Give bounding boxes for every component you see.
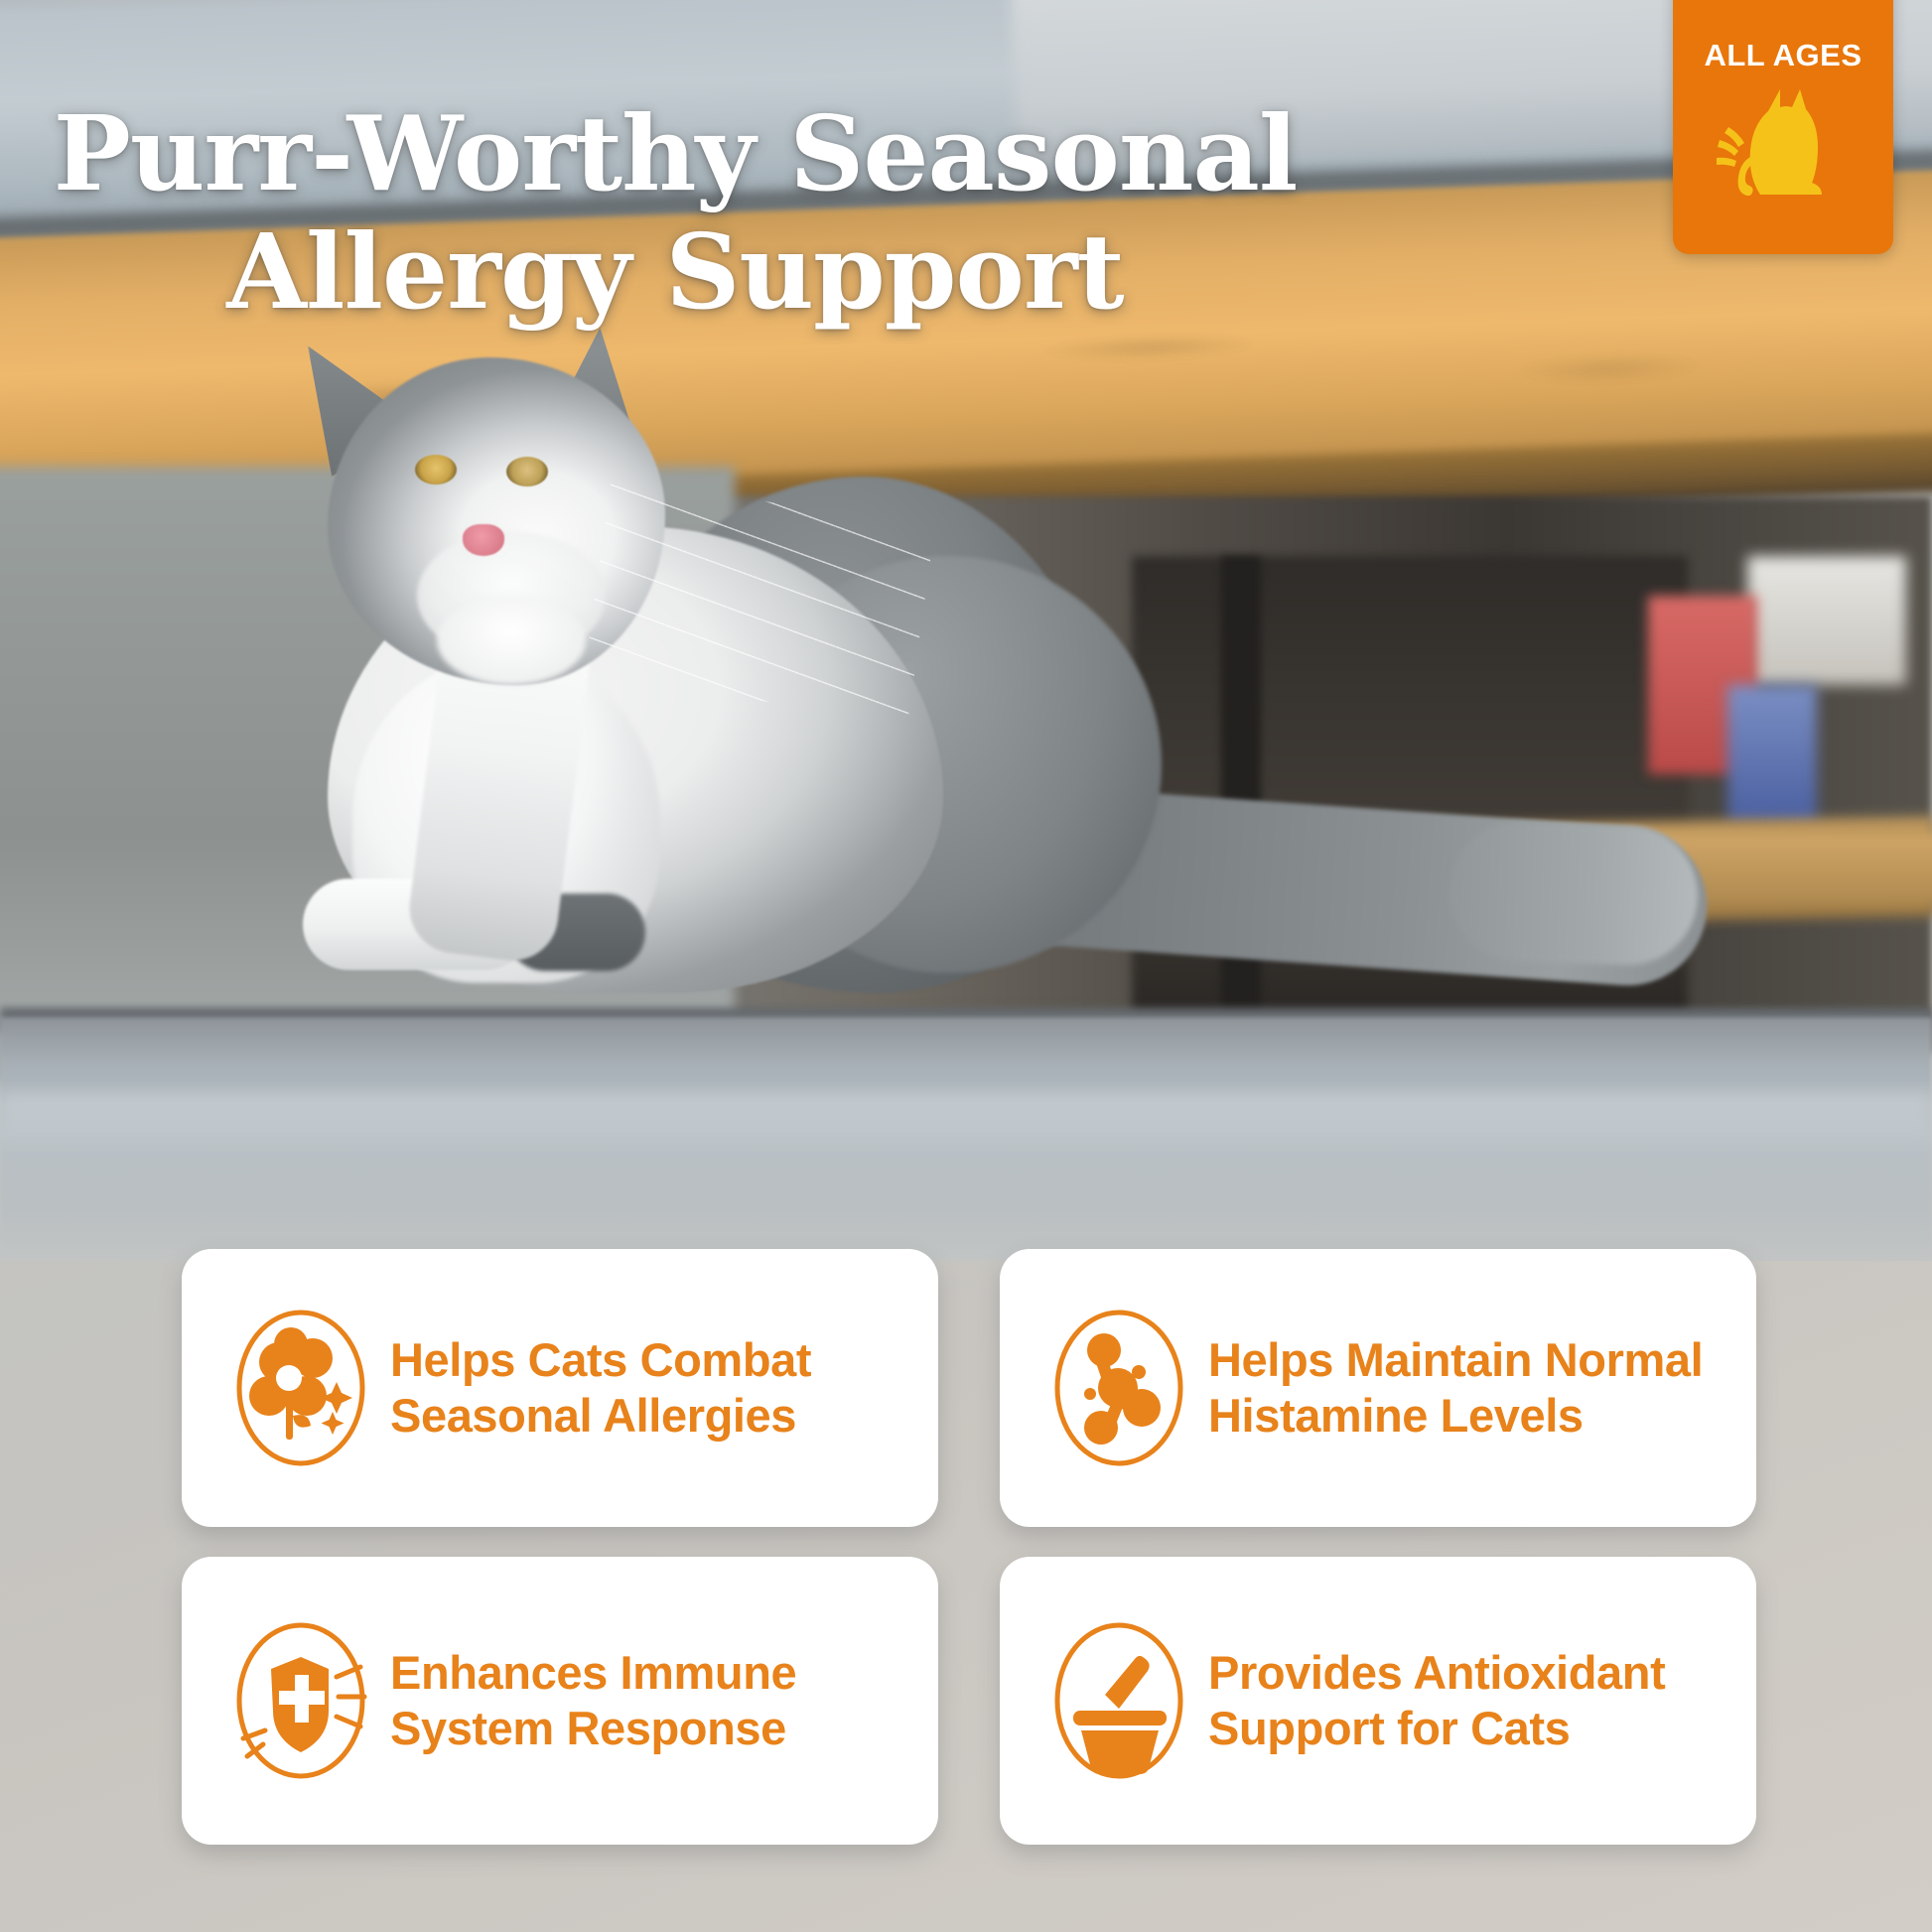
title-line-1: Purr-Worthy Seasonal [0, 95, 1350, 213]
feature-card-label: Provides Antioxidant Support for Cats [1208, 1645, 1723, 1757]
floor [0, 1018, 1932, 1261]
cat-eye-left [415, 455, 457, 484]
feature-card-label: Enhances Immune System Response [390, 1645, 904, 1757]
title-line-2: Allergy Support [0, 213, 1350, 332]
all-ages-badge: ALL AGES [1673, 0, 1893, 254]
cat-illustration [268, 328, 1509, 1023]
feature-card[interactable]: Helps Maintain Normal Histamine Levels [1000, 1249, 1756, 1527]
page-title: Purr-Worthy Seasonal Allergy Support [0, 95, 1350, 331]
cat-tail-tip [1448, 820, 1701, 968]
feature-card-grid: Helps Cats Combat Seasonal Allergies Hel… [182, 1249, 1756, 1864]
all-ages-label: ALL AGES [1673, 38, 1893, 73]
sitting-cat-silhouette-icon [1703, 85, 1862, 208]
background-box-white [1747, 556, 1906, 685]
cat-chin [437, 596, 586, 685]
floor-reflection [0, 1092, 1932, 1152]
feature-card[interactable]: Provides Antioxidant Support for Cats [1000, 1557, 1756, 1845]
feature-card-label: Helps Maintain Normal Histamine Levels [1208, 1332, 1723, 1445]
molecule-icon [1043, 1301, 1194, 1475]
flower-sparkle-icon [225, 1301, 376, 1475]
feature-card-label: Helps Cats Combat Seasonal Allergies [390, 1332, 904, 1445]
background-box-blue [1727, 685, 1817, 824]
product-infographic: Purr-Worthy Seasonal Allergy Support ALL… [0, 0, 1932, 1932]
mortar-pestle-icon [1043, 1613, 1194, 1788]
shield-plus-icon [225, 1613, 376, 1788]
cat-nose [463, 524, 504, 556]
cat-eye-right [506, 457, 548, 486]
feature-card[interactable]: Helps Cats Combat Seasonal Allergies [182, 1249, 938, 1527]
feature-card[interactable]: Enhances Immune System Response [182, 1557, 938, 1845]
